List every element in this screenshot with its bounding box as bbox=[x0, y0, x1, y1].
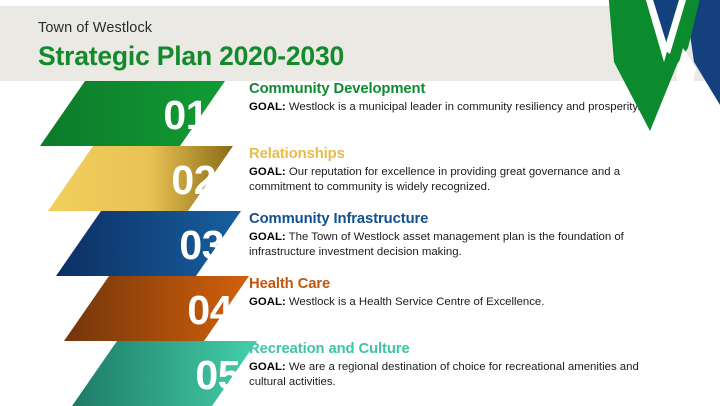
strategy-row: 05 Recreation and Culture GOAL: We are a… bbox=[0, 341, 720, 406]
number-badge: 01 bbox=[40, 81, 225, 146]
westlock-w-logo bbox=[590, 0, 720, 135]
parallelogram-shape bbox=[40, 81, 225, 146]
organization-name: Town of Westlock bbox=[38, 20, 344, 37]
goal-body: Westlock is a Health Service Centre of E… bbox=[289, 296, 545, 308]
strategy-text: Health Care GOAL: Westlock is a Health S… bbox=[249, 276, 669, 310]
goal-label: GOAL: bbox=[249, 166, 286, 178]
goal-text: GOAL: Our reputation for excellence in p… bbox=[249, 165, 661, 195]
number-badge: 05 bbox=[72, 341, 257, 406]
category-title: Health Care bbox=[249, 276, 669, 294]
strategy-text: Recreation and Culture GOAL: We are a re… bbox=[249, 341, 669, 390]
number-badge: 03 bbox=[56, 211, 241, 276]
strategy-text: Community Infrastructure GOAL: The Town … bbox=[249, 211, 669, 260]
goal-text: GOAL: The Town of Westlock asset managem… bbox=[249, 230, 661, 260]
goal-text: GOAL: We are a regional destination of c… bbox=[249, 360, 661, 390]
goal-body: Westlock is a municipal leader in commun… bbox=[289, 101, 641, 113]
parallelogram-shape bbox=[64, 276, 249, 341]
goal-body: The Town of Westlock asset management pl… bbox=[249, 231, 624, 258]
goal-text: GOAL: Westlock is a Health Service Centr… bbox=[249, 295, 661, 310]
category-title: Recreation and Culture bbox=[249, 341, 669, 359]
header-text-block: Town of Westlock Strategic Plan 2020-203… bbox=[38, 20, 344, 74]
strategy-text: Relationships GOAL: Our reputation for e… bbox=[249, 146, 669, 195]
category-title: Community Infrastructure bbox=[249, 211, 669, 229]
goal-label: GOAL: bbox=[249, 101, 286, 113]
parallelogram-shape bbox=[48, 146, 233, 211]
number-badge: 04 bbox=[64, 276, 249, 341]
number-badge: 02 bbox=[48, 146, 233, 211]
goal-body: We are a regional destination of choice … bbox=[249, 361, 639, 388]
parallelogram-shape bbox=[72, 341, 257, 406]
goal-body: Our reputation for excellence in providi… bbox=[249, 166, 620, 193]
category-title: Relationships bbox=[249, 146, 669, 164]
infographic-page: Town of Westlock Strategic Plan 2020-203… bbox=[0, 0, 720, 406]
page-title: Strategic Plan 2020-2030 bbox=[38, 40, 344, 73]
goal-label: GOAL: bbox=[249, 361, 286, 373]
goal-label: GOAL: bbox=[249, 231, 286, 243]
goal-label: GOAL: bbox=[249, 296, 286, 308]
parallelogram-shape bbox=[56, 211, 241, 276]
